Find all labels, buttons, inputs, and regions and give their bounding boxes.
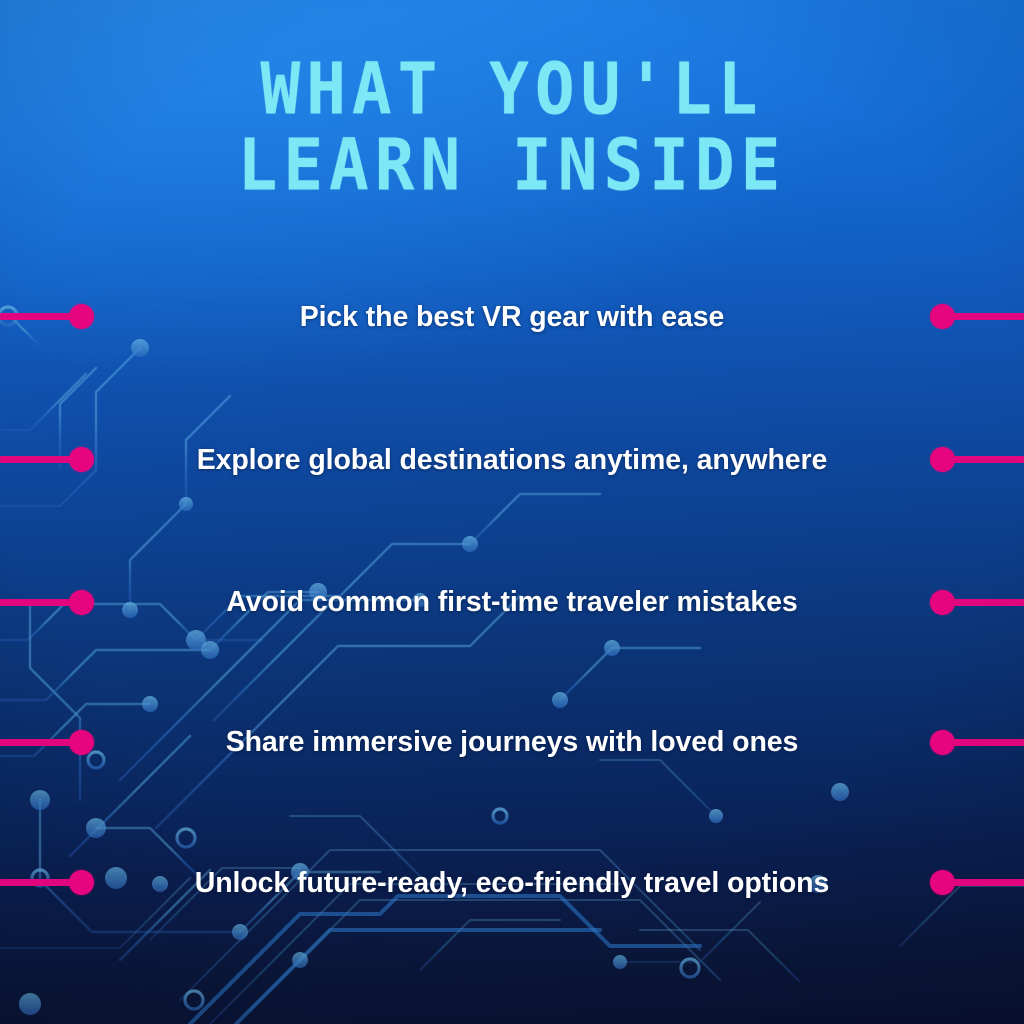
list-item: Avoid common first-time traveler mistake… bbox=[0, 532, 1024, 672]
marker-line-icon bbox=[0, 456, 72, 463]
list-item-label: Pick the best VR gear with ease bbox=[120, 301, 904, 333]
bullet-marker-left bbox=[0, 730, 94, 754]
page-title: WHAT YOU'LL LEARN INSIDE bbox=[0, 52, 1024, 198]
marker-line-icon bbox=[952, 599, 1024, 606]
marker-line-icon bbox=[0, 739, 72, 746]
bullet-marker-left bbox=[0, 871, 94, 895]
list-item-label: Unlock future-ready, eco-friendly travel… bbox=[120, 867, 904, 899]
list-item: Unlock future-ready, eco-friendly travel… bbox=[0, 812, 1024, 953]
marker-line-icon bbox=[952, 879, 1024, 886]
marker-line-icon bbox=[952, 739, 1024, 746]
marker-dot-icon bbox=[69, 590, 94, 615]
bullet-marker-right bbox=[930, 305, 1024, 329]
bullet-marker-right bbox=[930, 730, 1024, 754]
marker-line-icon bbox=[952, 313, 1024, 320]
bullet-marker-right bbox=[930, 590, 1024, 614]
list-item: Pick the best VR gear with ease bbox=[0, 246, 1024, 387]
benefits-list: Pick the best VR gear with ease Explore … bbox=[0, 246, 1024, 953]
marker-dot-icon bbox=[69, 304, 94, 329]
bullet-marker-left bbox=[0, 448, 94, 472]
marker-dot-icon bbox=[69, 447, 94, 472]
bullet-marker-right bbox=[930, 871, 1024, 895]
marker-line-icon bbox=[0, 879, 72, 886]
page-title-line-1: WHAT YOU'LL bbox=[0, 52, 1024, 128]
marker-dot-icon bbox=[69, 730, 94, 755]
bullet-marker-left bbox=[0, 305, 94, 329]
marker-line-icon bbox=[952, 456, 1024, 463]
marker-dot-icon bbox=[69, 870, 94, 895]
list-item-label: Avoid common first-time traveler mistake… bbox=[120, 586, 904, 618]
list-item-label: Share immersive journeys with loved ones bbox=[120, 726, 904, 758]
list-item: Share immersive journeys with loved ones bbox=[0, 672, 1024, 812]
poster-canvas: WHAT YOU'LL LEARN INSIDE Pick the best V… bbox=[0, 0, 1024, 1024]
page-title-line-2: LEARN INSIDE bbox=[0, 128, 1024, 204]
marker-line-icon bbox=[0, 313, 72, 320]
bullet-marker-left bbox=[0, 590, 94, 614]
list-item-label: Explore global destinations anytime, any… bbox=[120, 444, 904, 476]
marker-line-icon bbox=[0, 599, 72, 606]
bullet-marker-right bbox=[930, 448, 1024, 472]
list-item: Explore global destinations anytime, any… bbox=[0, 387, 1024, 532]
